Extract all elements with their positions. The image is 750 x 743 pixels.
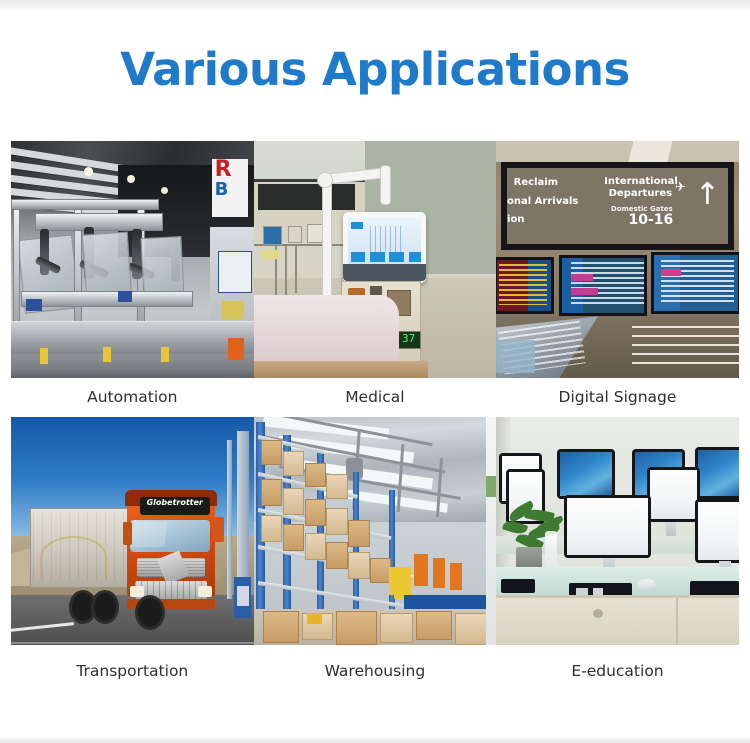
gallery-cell-medical[interactable]: 37 Medical xyxy=(254,141,497,417)
sign-text-arrivals: onal Arrivals xyxy=(507,196,578,207)
caption-automation: Automation xyxy=(11,378,254,417)
airport-direction-sign: Reclaim onal Arrivals ion International … xyxy=(501,162,734,250)
caption-transportation: Transportation xyxy=(11,645,254,691)
sign-text-international: International xyxy=(604,176,678,187)
applications-gallery: R B xyxy=(11,141,739,691)
gallery-cell-e-education[interactable]: E-education xyxy=(496,417,739,691)
medical-display-value: 37 xyxy=(397,331,421,350)
bottom-divider xyxy=(0,736,750,743)
arrow-up-icon: ↑ xyxy=(695,180,720,210)
page-title: Various Applications xyxy=(0,44,750,96)
caption-digital-signage: Digital Signage xyxy=(496,378,739,417)
sign-text-departures: Departures xyxy=(609,188,673,199)
automation-factory-line-photo[interactable]: R B xyxy=(11,141,254,378)
booth-sign-letter-b: B xyxy=(212,181,248,199)
top-divider xyxy=(0,0,750,11)
caption-medical: Medical xyxy=(254,378,497,417)
sign-text-reclaim: Reclaim xyxy=(514,177,558,188)
airplane-icon: ✈ xyxy=(675,180,686,195)
sign-text-gate-range: 10-16 xyxy=(629,212,674,228)
caption-warehousing: Warehousing xyxy=(254,645,497,691)
booth-sign: R B xyxy=(212,159,248,217)
gallery-row: Globetrotter xyxy=(11,417,739,691)
gallery-cell-transportation[interactable]: Globetrotter xyxy=(11,417,254,691)
gallery-cell-warehousing[interactable]: Warehousing xyxy=(254,417,497,691)
sign-text-ion: ion xyxy=(507,214,524,225)
digital-signage-airport-photo[interactable]: Reclaim onal Arrivals ion International … xyxy=(496,141,739,378)
gallery-cell-digital-signage[interactable]: Reclaim onal Arrivals ion International … xyxy=(496,141,739,417)
warehousing-racking-photo[interactable] xyxy=(254,417,497,645)
gallery-cell-automation[interactable]: R B xyxy=(11,141,254,417)
truck-brand-label: Globetrotter xyxy=(140,497,210,515)
medical-hospital-monitor-photo[interactable]: 37 xyxy=(254,141,497,378)
caption-e-education: E-education xyxy=(496,645,739,691)
transportation-truck-photo[interactable]: Globetrotter xyxy=(11,417,254,645)
e-education-computer-lab-photo[interactable] xyxy=(496,417,739,645)
gallery-row: R B xyxy=(11,141,739,417)
booth-sign-letter-r: R xyxy=(212,159,248,181)
applications-page: Various Applications xyxy=(0,0,750,743)
